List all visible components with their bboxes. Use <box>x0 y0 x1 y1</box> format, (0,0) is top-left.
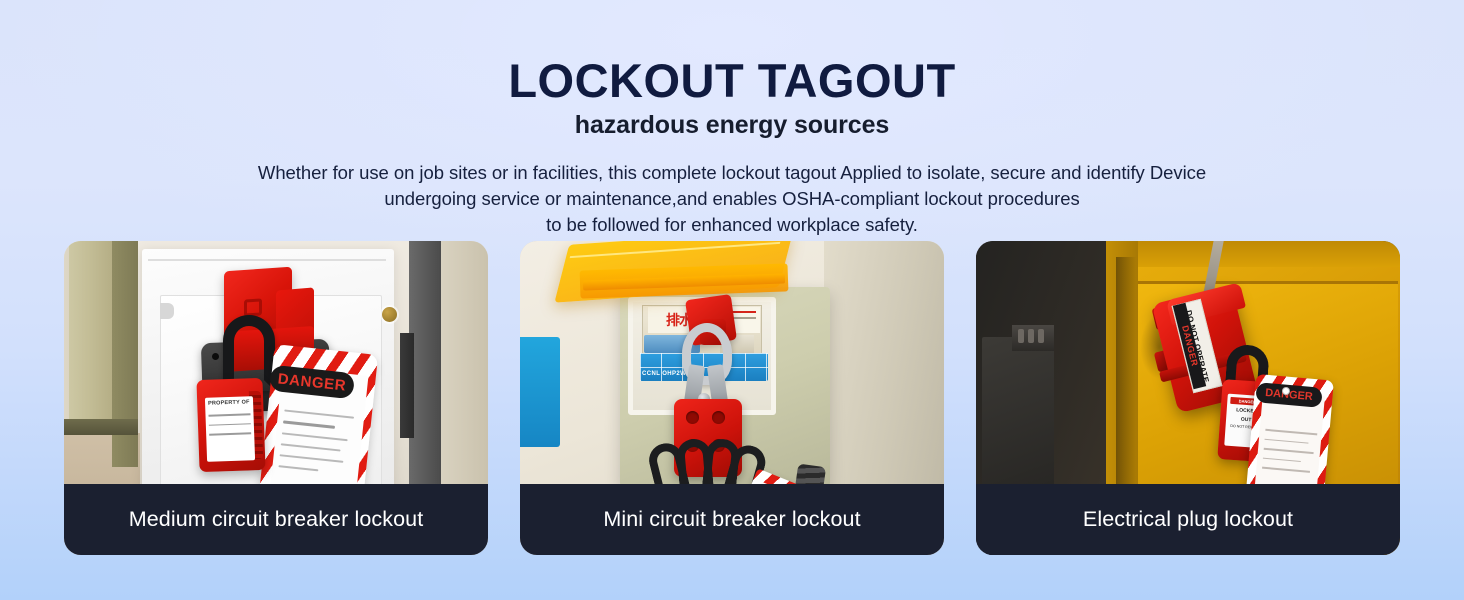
product-card-mini-circuit-breaker-lockout[interactable]: 排水 CCNL OHP2W <box>520 241 944 555</box>
card-caption-3: Electrical plug lockout <box>976 484 1400 555</box>
hasp-hole <box>212 353 219 360</box>
description-line-3: to be followed for enhanced workplace sa… <box>142 212 1322 238</box>
padlock-property-label: PROPERTY OF <box>205 396 255 462</box>
card-caption-2: Mini circuit breaker lockout <box>520 484 944 555</box>
page-title: LOCKOUT TAGOUT <box>0 57 1464 106</box>
door-frame-bottom <box>64 419 138 435</box>
page-description: Whether for use on job sites or in facil… <box>142 160 1322 239</box>
hasp-hole <box>686 411 699 424</box>
panel-notch <box>160 303 174 319</box>
page-subtitle: hazardous energy sources <box>0 111 1464 140</box>
door-frame <box>69 241 117 427</box>
product-card-electrical-plug-lockout[interactable]: DO NOT OPERATE DANGER DANGER LOCKED OUT … <box>976 241 1400 555</box>
equipment-connectors <box>1018 329 1044 343</box>
card-caption-label-3: Electrical plug lockout <box>1083 507 1293 532</box>
panel-dark-strip-inner <box>400 333 414 438</box>
banner-header: LOCKOUT TAGOUT hazardous energy sources … <box>0 0 1464 239</box>
panel-screw <box>382 307 397 322</box>
padlock-property-text: PROPERTY OF <box>208 399 250 406</box>
description-line-2: undergoing service or maintenance,and en… <box>142 186 1322 212</box>
card-caption-1: Medium circuit breaker lockout <box>64 484 488 555</box>
product-card-row: DANGER PROPERTY OF Medium circuit breake… <box>64 241 1400 555</box>
card-caption-label-2: Mini circuit breaker lockout <box>603 507 860 532</box>
card-caption-label-1: Medium circuit breaker lockout <box>129 507 424 532</box>
red-breaker-lockout-slot <box>244 298 262 316</box>
panel-ridge <box>148 259 386 261</box>
description-line-1: Whether for use on job sites or in facil… <box>142 160 1322 186</box>
danger-tag-label: DANGER <box>277 370 347 394</box>
yellow-machine-top-edge <box>1094 241 1400 267</box>
product-card-medium-circuit-breaker-lockout[interactable]: DANGER PROPERTY OF Medium circuit breake… <box>64 241 488 555</box>
hasp-hole <box>712 411 725 424</box>
blue-object-background <box>520 337 560 447</box>
lockout-tagout-banner: LOCKOUT TAGOUT hazardous energy sources … <box>0 0 1464 600</box>
